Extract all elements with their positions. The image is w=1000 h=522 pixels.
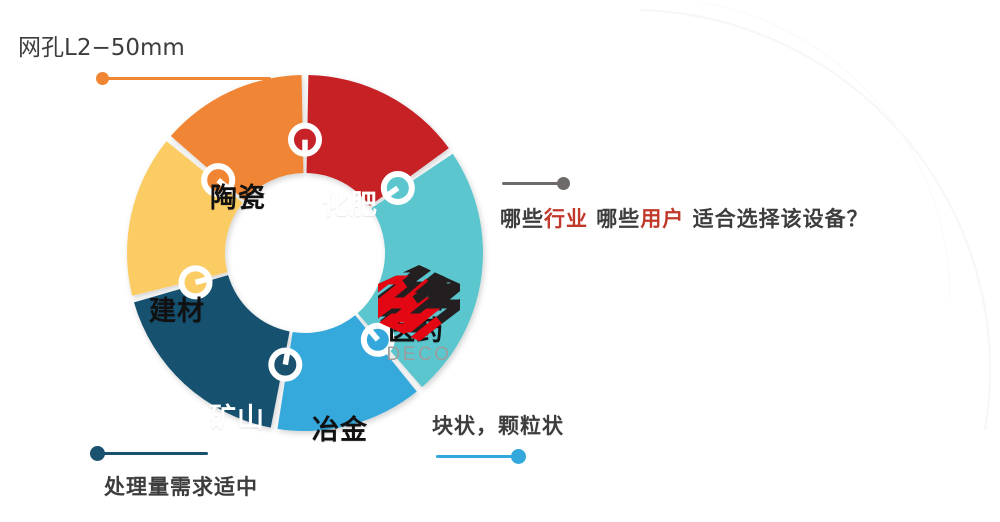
slider-knob[interactable] <box>96 72 109 85</box>
industry-donut-chart: 化肥 食品 医药 冶金 矿山 建材 陶瓷 <box>115 68 495 443</box>
slider-track <box>102 452 208 455</box>
callout-industry-label: 哪些行业 哪些用户 适合选择该设备？ <box>500 203 869 233</box>
deco-hex-logo-icon <box>375 264 463 342</box>
callout-throughput: 处理量需求适中 <box>90 445 258 501</box>
callout-shape-label: 块状，颗粒状 <box>432 410 564 440</box>
slider-knob[interactable] <box>90 446 105 461</box>
callout-mesh-slider[interactable] <box>96 70 271 86</box>
slider-knob[interactable] <box>557 177 570 190</box>
callout-mesh-label: 网孔L2−50mm <box>18 28 271 62</box>
callout-material-shape: 块状，颗粒状 <box>432 410 564 464</box>
industry-highlight-user: 用户 <box>640 207 684 231</box>
puzzle-connector-bridge <box>285 350 288 365</box>
callout-mesh-size: 网孔L2−50mm <box>18 28 271 86</box>
deco-wordmark: DECO <box>387 344 452 366</box>
industry-text-prefix: 哪些 <box>500 207 544 231</box>
callout-industry-slider[interactable] <box>502 175 570 191</box>
puzzle-connector-bridge <box>196 278 210 282</box>
callout-shape-slider[interactable] <box>436 448 526 464</box>
slider-track <box>502 182 560 185</box>
infographic-canvas: 化肥 食品 医药 冶金 矿山 建材 陶瓷 <box>0 0 1000 522</box>
industry-text-middle: 哪些 <box>588 207 640 231</box>
donut-svg <box>115 68 495 443</box>
donut-segment[interactable] <box>134 275 290 427</box>
callout-target-industry: 哪些行业 哪些用户 适合选择该设备？ <box>500 175 869 233</box>
industry-highlight-industry: 行业 <box>544 207 588 231</box>
slider-track <box>436 455 514 458</box>
callout-capacity-slider[interactable] <box>90 445 208 461</box>
industry-text-suffix: 适合选择该设备？ <box>684 207 868 231</box>
slider-track <box>106 77 271 80</box>
callout-capacity-label: 处理量需求适中 <box>104 471 258 501</box>
slider-knob[interactable] <box>511 449 526 464</box>
deco-center-logo: DECO <box>360 264 478 382</box>
